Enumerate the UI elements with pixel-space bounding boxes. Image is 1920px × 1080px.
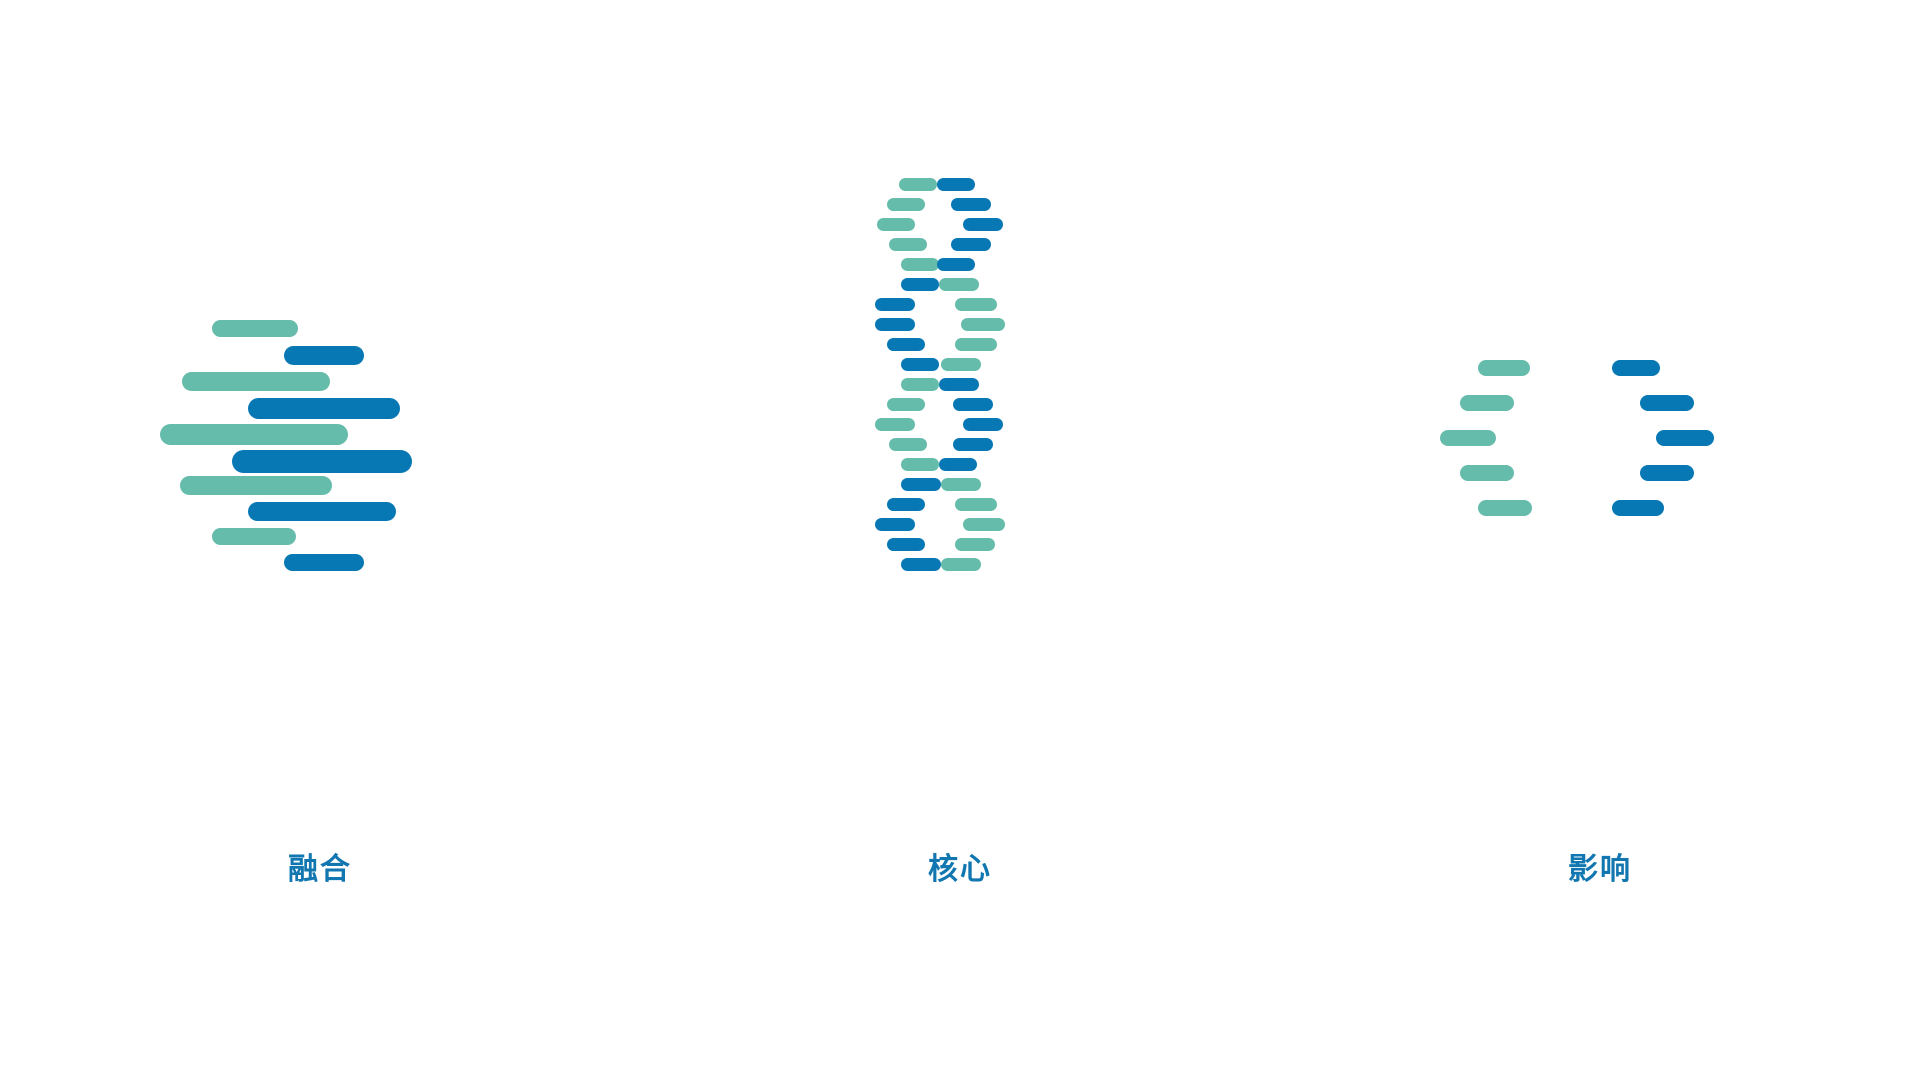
helix-rung-right-0 xyxy=(937,178,975,191)
helix-rung-left-11 xyxy=(887,398,925,411)
helix-rung-left-19 xyxy=(901,558,941,571)
helix-rung-right-14 xyxy=(939,458,977,471)
helix-rung-left-7 xyxy=(875,318,915,331)
helix-rung-right-15 xyxy=(941,478,981,491)
helix-rung-left-10 xyxy=(901,378,939,391)
impact-left-bar-3 xyxy=(1460,465,1514,481)
panel-fusion-label: 融合 xyxy=(0,855,640,885)
helix-rung-right-13 xyxy=(953,438,993,451)
helix-rung-left-15 xyxy=(901,478,941,491)
helix-rung-left-8 xyxy=(887,338,925,351)
fusion-bar-2 xyxy=(182,372,330,391)
fusion-bar-9 xyxy=(284,554,364,571)
icon-gallery: 融合 核心 影响 xyxy=(0,0,1920,1080)
helix-rung-right-4 xyxy=(937,258,975,271)
helix-rung-right-10 xyxy=(939,378,979,391)
fusion-bar-1 xyxy=(284,346,364,365)
helix-rung-left-9 xyxy=(901,358,939,371)
helix-rung-left-18 xyxy=(887,538,925,551)
fusion-bar-5 xyxy=(232,450,412,473)
panel-core-label: 核心 xyxy=(640,855,1280,885)
fusion-bar-6 xyxy=(180,476,332,495)
impact-left-bar-1 xyxy=(1460,395,1514,411)
helix-rung-right-3 xyxy=(951,238,991,251)
helix-rung-left-16 xyxy=(887,498,925,511)
impact-right-bar-2 xyxy=(1656,430,1714,446)
panel-core[interactable]: 核心 xyxy=(640,0,1280,1080)
helix-rung-left-13 xyxy=(889,438,927,451)
impact-left-bar-4 xyxy=(1478,500,1532,516)
panel-impact[interactable]: 影响 xyxy=(1280,0,1920,1080)
helix-rung-left-6 xyxy=(875,298,915,311)
helix-rung-right-1 xyxy=(951,198,991,211)
helix-rung-right-2 xyxy=(963,218,1003,231)
impact-left-bar-0 xyxy=(1478,360,1530,376)
fusion-bar-7 xyxy=(248,502,396,521)
impact-left-bar-2 xyxy=(1440,430,1496,446)
helix-rung-left-14 xyxy=(901,458,939,471)
helix-rung-right-5 xyxy=(939,278,979,291)
impact-right-bar-3 xyxy=(1640,465,1694,481)
helix-rung-right-19 xyxy=(941,558,981,571)
helix-rung-right-18 xyxy=(955,538,995,551)
helix-rung-right-11 xyxy=(953,398,993,411)
helix-rung-left-3 xyxy=(889,238,927,251)
helix-rung-right-9 xyxy=(941,358,981,371)
helix-rung-left-2 xyxy=(877,218,915,231)
helix-rung-right-8 xyxy=(955,338,997,351)
impact-right-bar-4 xyxy=(1612,500,1664,516)
helix-rung-left-1 xyxy=(887,198,925,211)
helix-rung-right-16 xyxy=(955,498,997,511)
fusion-bar-8 xyxy=(212,528,296,545)
gene-fusion-icon xyxy=(160,320,480,550)
fusion-bar-0 xyxy=(212,320,298,337)
helix-rung-right-6 xyxy=(955,298,997,311)
helix-rung-left-12 xyxy=(875,418,915,431)
panel-fusion[interactable]: 融合 xyxy=(0,0,640,1080)
impact-right-bar-1 xyxy=(1640,395,1694,411)
helix-rung-left-5 xyxy=(901,278,939,291)
panel-impact-label: 影响 xyxy=(1280,855,1920,885)
gene-impact-icon xyxy=(1440,360,1760,510)
dna-helix-icon xyxy=(875,178,1045,588)
helix-rung-left-0 xyxy=(899,178,937,191)
fusion-bar-4 xyxy=(160,424,348,445)
helix-rung-left-4 xyxy=(901,258,939,271)
helix-rung-right-12 xyxy=(963,418,1003,431)
fusion-bar-3 xyxy=(248,398,400,419)
helix-rung-left-17 xyxy=(875,518,915,531)
helix-rung-right-17 xyxy=(963,518,1005,531)
impact-right-bar-0 xyxy=(1612,360,1660,376)
helix-rung-right-7 xyxy=(961,318,1005,331)
